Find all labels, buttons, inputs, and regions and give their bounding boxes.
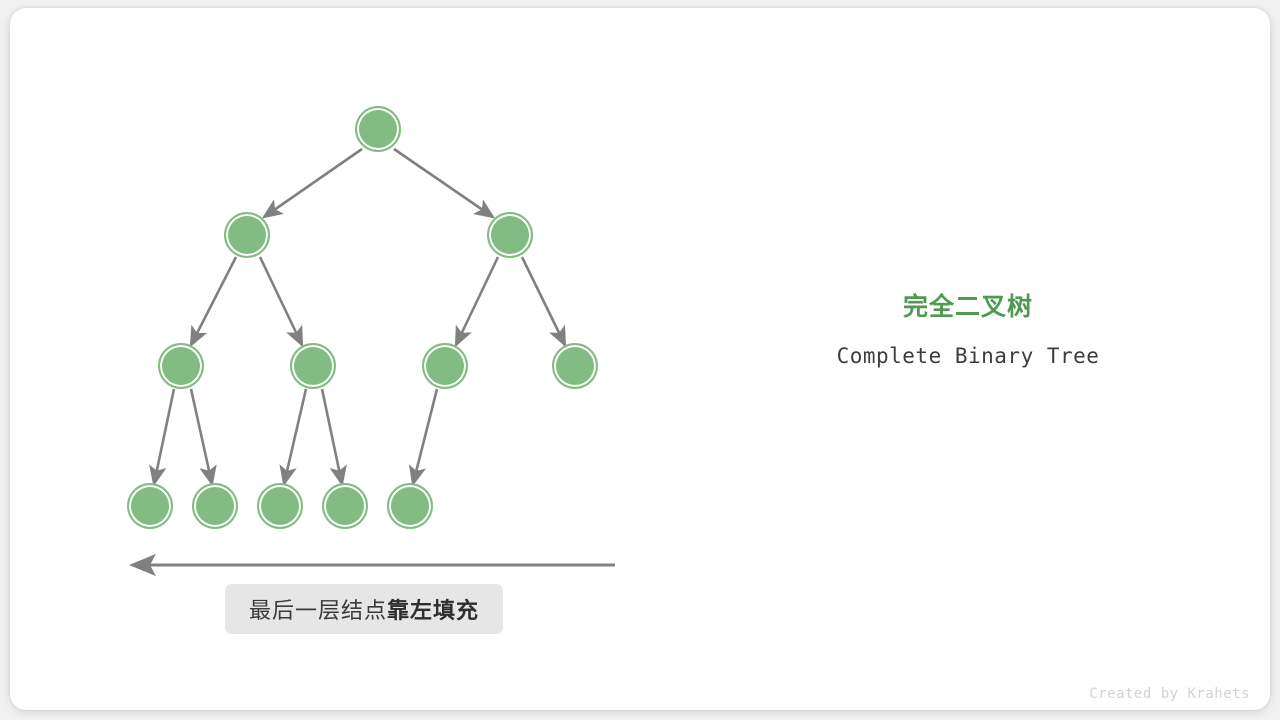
- tree-node-l3-0: [127, 483, 173, 529]
- label-block: 完全二叉树 Complete Binary Tree: [768, 292, 1168, 368]
- edge-n3-n8: [191, 389, 212, 484]
- edge-n3-n7: [154, 389, 174, 484]
- tree-node-l3-3: [322, 483, 368, 529]
- caption-text-bold: 靠左填充: [387, 593, 479, 625]
- footer-credit: Created by Krahets: [1089, 686, 1250, 702]
- caption-text-normal: 最后一层结点: [249, 593, 387, 625]
- tree-node-l2-1: [290, 343, 336, 389]
- caption-pill: 最后一层结点靠左填充: [225, 584, 503, 634]
- edge-n0-n1: [264, 149, 362, 217]
- edge-n1-n3: [191, 257, 236, 345]
- tree-node-l1-0: [224, 212, 270, 258]
- tree-node-l3-1: [192, 483, 238, 529]
- tree-edges: [154, 149, 565, 484]
- edge-n5-n11: [413, 389, 437, 484]
- edge-n2-n5: [456, 257, 498, 345]
- tree-node-l3-4: [387, 483, 433, 529]
- tree-node-root: [355, 106, 401, 152]
- tree-node-l1-1: [487, 212, 533, 258]
- tree-node-l2-0: [158, 343, 204, 389]
- edge-n0-n2: [394, 149, 493, 217]
- tree-node-l2-2: [422, 343, 468, 389]
- edge-n4-n9: [284, 389, 306, 484]
- edge-n4-n10: [322, 389, 342, 484]
- diagram-title-cn: 完全二叉树: [768, 292, 1168, 322]
- tree-node-l3-2: [257, 483, 303, 529]
- edge-n2-n6: [522, 257, 565, 345]
- tree-node-l2-3: [552, 343, 598, 389]
- edge-n1-n4: [260, 257, 302, 345]
- page-stage: 最后一层结点靠左填充 完全二叉树 Complete Binary Tree Cr…: [0, 0, 1280, 720]
- diagram-title-en: Complete Binary Tree: [768, 344, 1168, 368]
